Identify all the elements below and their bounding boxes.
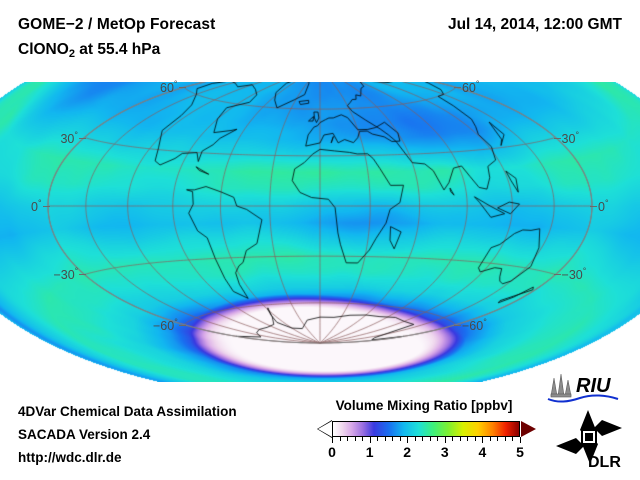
- global-map-heatmap: [0, 82, 640, 382]
- footer-line-version: SACADA Version 2.4: [18, 423, 237, 446]
- colorbar-minor-tick: [362, 437, 363, 441]
- colorbar-minor-tick: [415, 437, 416, 441]
- colorbar-minor-tick: [437, 437, 438, 441]
- colorbar-tick-label: 4: [478, 444, 486, 460]
- dlr-wordmark: DLR: [588, 454, 621, 470]
- colorbar-minor-tick: [505, 437, 506, 441]
- page-title: GOME−2 / MetOp Forecast: [18, 16, 215, 34]
- latitude-tick: [179, 325, 186, 326]
- colorbar-tick-label: 3: [441, 444, 449, 460]
- latitude-label: −60°: [153, 317, 178, 333]
- map-panel: 60°60°30°30°0°0°−30°−30°−60°−60°: [0, 82, 640, 382]
- colorbar-minor-tick: [475, 437, 476, 441]
- colorbar-minor-tick: [460, 437, 461, 441]
- colorbar-major-tick: [370, 437, 371, 443]
- dlr-logo: DLR: [552, 408, 626, 470]
- colorbar-max-arrow: [521, 421, 536, 437]
- riu-spikes-icon: [551, 374, 571, 397]
- colorbar-minor-tick: [490, 437, 491, 441]
- colorbar-minor-tick: [385, 437, 386, 441]
- latitude-label: −60°: [462, 317, 487, 333]
- colorbar-min-arrow: [318, 421, 332, 437]
- latitude-label: 30°: [60, 130, 78, 146]
- latitude-label: 0°: [598, 198, 609, 214]
- footer-line-method: 4DVar Chemical Data Assimilation: [18, 400, 237, 423]
- colorbar-minor-tick: [512, 437, 513, 441]
- colorbar-tick-label: 5: [516, 444, 524, 460]
- footer-credits: 4DVar Chemical Data Assimilation SACADA …: [18, 400, 237, 469]
- latitude-tick: [554, 138, 561, 139]
- latitude-label: 60°: [160, 79, 178, 95]
- colorbar-tick-label: 2: [403, 444, 411, 460]
- latitude-tick: [179, 87, 186, 88]
- colorbar-minor-tick: [355, 437, 356, 441]
- latitude-tick: [79, 138, 86, 139]
- colorbar-major-tick: [482, 437, 483, 443]
- latitude-label: −30°: [53, 266, 78, 282]
- colorbar-minor-tick: [340, 437, 341, 441]
- species-subtitle: ClONO2 at 55.4 hPa: [18, 41, 160, 60]
- colorbar-minor-tick: [452, 437, 453, 441]
- latitude-tick: [79, 274, 86, 275]
- colorbar-tick-label: 0: [328, 444, 336, 460]
- species-name: ClONO: [18, 41, 69, 58]
- footer-line-url[interactable]: http://wdc.dlr.de: [18, 446, 237, 469]
- colorbar-minor-tick: [430, 437, 431, 441]
- riu-logo: RIU: [546, 372, 632, 406]
- colorbar-minor-tick: [422, 437, 423, 441]
- colorbar-minor-tick: [377, 437, 378, 441]
- colorbar-row: [316, 418, 536, 440]
- colorbar-major-tick: [520, 437, 521, 443]
- latitude-label: 0°: [31, 198, 42, 214]
- latitude-tick: [590, 206, 597, 207]
- colorbar-major-tick: [407, 437, 408, 443]
- latitude-tick: [454, 87, 461, 88]
- colorbar-minor-tick: [467, 437, 468, 441]
- colorbar-major-tick: [445, 437, 446, 443]
- colorbar-gradient: [332, 421, 520, 437]
- latitude-tick: [43, 206, 50, 207]
- latitude-label: 30°: [562, 130, 580, 146]
- riu-wordmark: RIU: [576, 375, 611, 397]
- latitude-label: 60°: [462, 79, 480, 95]
- timestamp: Jul 14, 2014, 12:00 GMT: [448, 16, 622, 34]
- colorbar-tick-label: 1: [366, 444, 374, 460]
- colorbar-ticks: [332, 437, 520, 443]
- colorbar-title: Volume Mixing Ratio [ppbv]: [312, 398, 536, 413]
- colorbar-major-tick: [332, 437, 333, 443]
- colorbar-tick-labels: 012345: [316, 444, 536, 462]
- colorbar-minor-tick: [392, 437, 393, 441]
- colorbar-legend: Volume Mixing Ratio [ppbv] 012345: [316, 398, 536, 462]
- pressure-level: at 55.4 hPa: [75, 41, 160, 58]
- latitude-tick: [554, 274, 561, 275]
- latitude-label: −30°: [562, 266, 587, 282]
- colorbar-minor-tick: [497, 437, 498, 441]
- colorbar-minor-tick: [347, 437, 348, 441]
- colorbar-minor-tick: [400, 437, 401, 441]
- latitude-tick: [454, 325, 461, 326]
